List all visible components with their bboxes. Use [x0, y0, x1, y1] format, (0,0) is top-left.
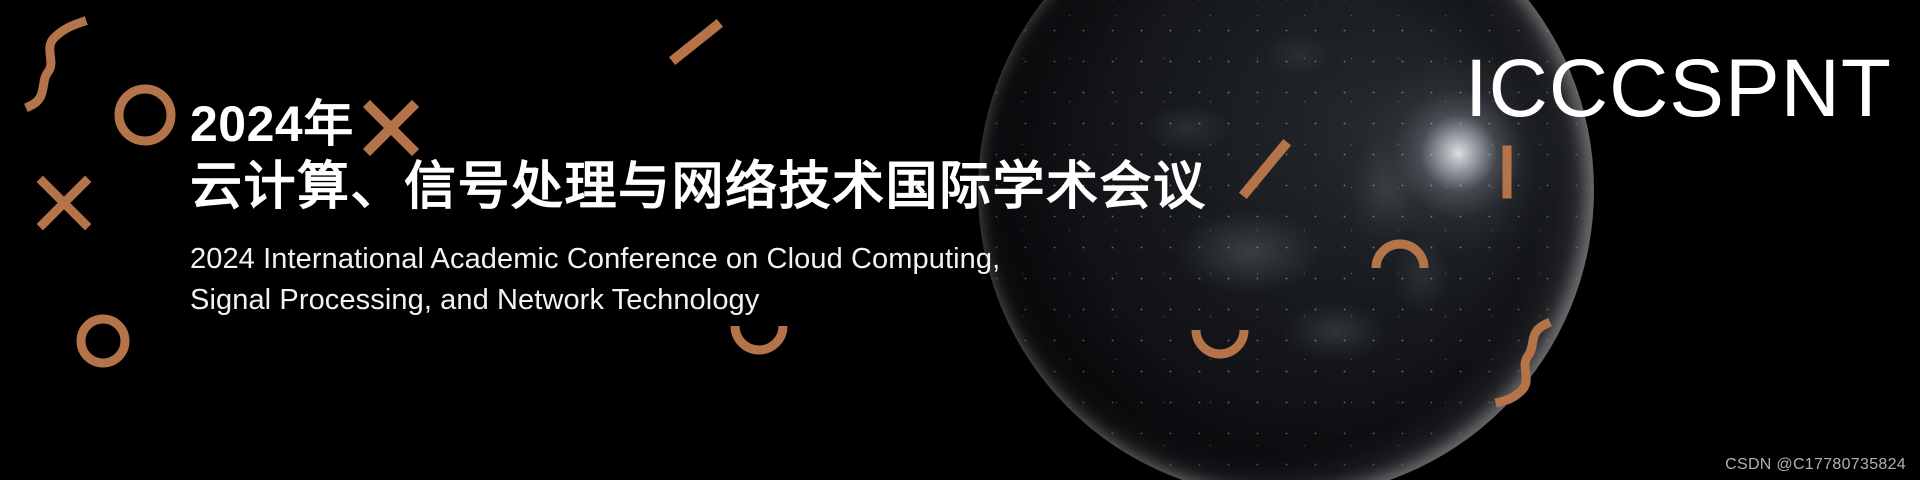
chinese-title: 云计算、信号处理与网络技术国际学术会议 [190, 157, 1190, 217]
cross-left-mid-icon [36, 175, 92, 231]
squiggle-right-bottom-icon [1494, 316, 1556, 408]
conference-acronym: ICCCSPNT [1465, 48, 1892, 130]
arc-right-lower-icon [1188, 322, 1252, 372]
english-title-line-1: 2024 International Academic Conference o… [190, 239, 1190, 280]
arc-right-mid-icon [1368, 226, 1432, 276]
ring-left-upper-icon [112, 82, 178, 148]
year-line: 2024年 [190, 98, 1190, 151]
headline-block: 2024年 云计算、信号处理与网络技术国际学术会议 2024 Internati… [190, 98, 1190, 322]
english-title-line-2: Signal Processing, and Network Technolog… [190, 280, 1190, 321]
dash-right-upper-icon [1238, 138, 1294, 200]
csdn-watermark: CSDN @C17780735824 [1725, 456, 1906, 474]
arc-bottom-center-icon [728, 320, 790, 366]
conference-banner: 2024年 云计算、信号处理与网络技术国际学术会议 2024 Internati… [0, 0, 1920, 480]
dash-top-center-icon [668, 18, 726, 66]
ring-left-lower-icon [74, 312, 132, 370]
squiggle-left-top-icon [22, 14, 92, 114]
dash-right-edge-icon [1494, 144, 1520, 202]
